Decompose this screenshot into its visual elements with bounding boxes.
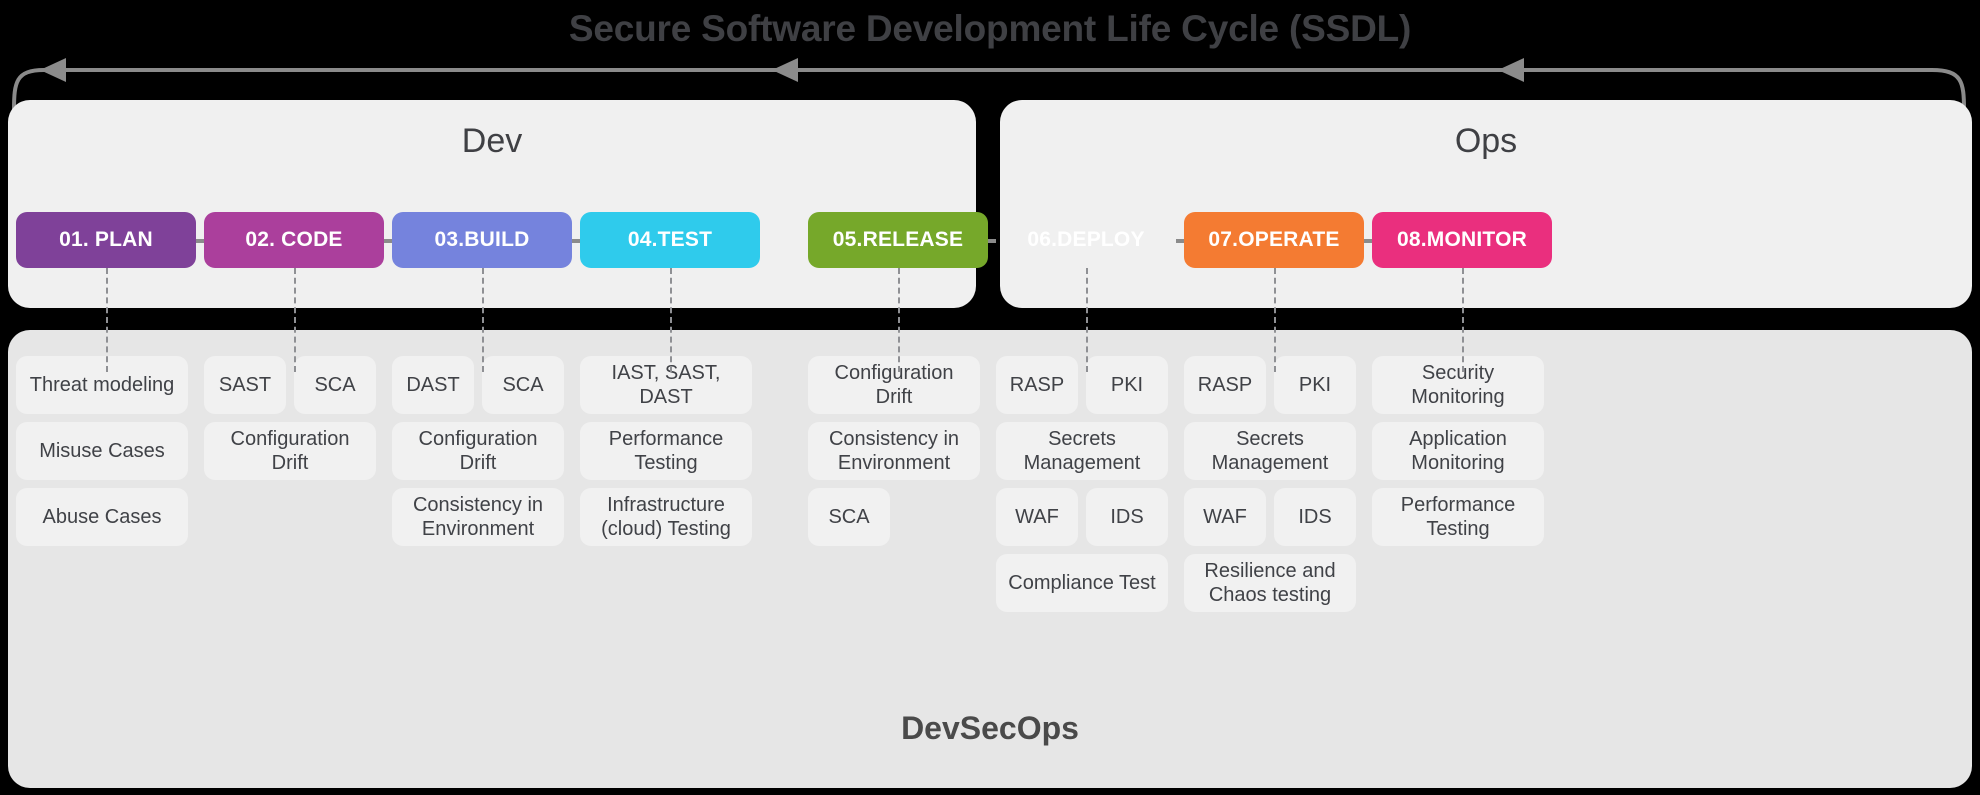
- practice-chip-label: Performance Testing: [586, 427, 746, 476]
- stage-connector-7: [1364, 239, 1372, 243]
- practice-chip[interactable]: Configuration Drift: [204, 422, 376, 480]
- practice-chip-label: Configuration Drift: [398, 427, 558, 476]
- practice-chip-label: Application Monitoring: [1378, 427, 1538, 476]
- stage-connector-6: [1176, 239, 1184, 243]
- stage-pill-label: 05.RELEASE: [833, 228, 963, 252]
- practice-chip[interactable]: Abuse Cases: [16, 488, 188, 546]
- stage-pill-label: 02. CODE: [245, 228, 342, 252]
- practice-chip[interactable]: Secrets Management: [996, 422, 1168, 480]
- feedback-arrowhead-left: [40, 58, 66, 82]
- practice-chip-label: Misuse Cases: [39, 439, 165, 463]
- practice-chip-label: RASP: [1010, 373, 1064, 397]
- practice-chip-label: IDS: [1110, 505, 1143, 529]
- stage-pill-7[interactable]: 07.OPERATE: [1184, 212, 1364, 268]
- practice-chip[interactable]: Performance Testing: [1372, 488, 1544, 546]
- stage-pill-label: 08.MONITOR: [1397, 228, 1527, 252]
- stage-pill-label: 06.DEPLOY: [1027, 228, 1144, 252]
- practice-chip[interactable]: IAST, SAST, DAST: [580, 356, 752, 414]
- practice-chip-label: Consistency in Environment: [814, 427, 974, 476]
- stage-dropper-5: [898, 268, 900, 372]
- practice-chip-label: SCA: [314, 373, 355, 397]
- practice-chip-label: Infrastructure (cloud) Testing: [586, 493, 746, 542]
- practice-chip-label: Threat modeling: [30, 373, 175, 397]
- practice-chip-label: RASP: [1198, 373, 1252, 397]
- practice-chip-label: PKI: [1299, 373, 1331, 397]
- page-title: Secure Software Development Life Cycle (…: [0, 8, 1980, 50]
- practice-chip[interactable]: Consistency in Environment: [808, 422, 980, 480]
- stage-pill-6[interactable]: 06.DEPLOY: [996, 212, 1176, 268]
- footer-label: DevSecOps: [0, 710, 1980, 747]
- feedback-arrowhead-mid: [772, 58, 798, 82]
- stage-dropper-2: [294, 268, 296, 372]
- practice-chip-label: SCA: [828, 505, 869, 529]
- practice-chip[interactable]: Misuse Cases: [16, 422, 188, 480]
- practice-chip[interactable]: SCA: [808, 488, 890, 546]
- practice-chip-label: Consistency in Environment: [398, 493, 558, 542]
- practice-chip-label: WAF: [1203, 505, 1247, 529]
- practice-chip[interactable]: Compliance Test: [996, 554, 1168, 612]
- stage-pill-label: 03.BUILD: [435, 228, 530, 252]
- practice-chip-label: Compliance Test: [1008, 571, 1155, 595]
- group-card-ops: Ops: [1000, 100, 1972, 308]
- practice-chip-label: WAF: [1015, 505, 1059, 529]
- practice-chip[interactable]: RASP: [996, 356, 1078, 414]
- practice-chip-label: Secrets Management: [1002, 427, 1162, 476]
- practice-chip-label: Security Monitoring: [1378, 361, 1538, 410]
- practice-chip[interactable]: Performance Testing: [580, 422, 752, 480]
- feedback-arrowhead-right: [1498, 58, 1524, 82]
- stage-pill-1[interactable]: 01. PLAN: [16, 212, 196, 268]
- stage-connector-5: [988, 239, 996, 243]
- practice-chip[interactable]: SCA: [482, 356, 564, 414]
- practice-chip-label: SCA: [502, 373, 543, 397]
- practice-chip-label: Performance Testing: [1378, 493, 1538, 542]
- practice-chip[interactable]: IDS: [1274, 488, 1356, 546]
- practice-chip[interactable]: Configuration Drift: [392, 422, 564, 480]
- stage-pill-2[interactable]: 02. CODE: [204, 212, 384, 268]
- stage-connector-3: [572, 239, 580, 243]
- practice-chip-label: IAST, SAST, DAST: [586, 361, 746, 410]
- stage-pill-label: 01. PLAN: [59, 228, 153, 252]
- practice-chip-label: Resilience and Chaos testing: [1190, 559, 1350, 608]
- practice-chip-label: Configuration Drift: [814, 361, 974, 410]
- practice-chip[interactable]: Threat modeling: [16, 356, 188, 414]
- practice-chip[interactable]: SCA: [294, 356, 376, 414]
- practice-chip[interactable]: DAST: [392, 356, 474, 414]
- group-label-dev: Dev: [8, 122, 976, 161]
- practice-chip[interactable]: Secrets Management: [1184, 422, 1356, 480]
- practice-chip[interactable]: WAF: [996, 488, 1078, 546]
- stage-dropper-7: [1274, 268, 1276, 372]
- practice-chip-label: Configuration Drift: [210, 427, 370, 476]
- stage-pill-8[interactable]: 08.MONITOR: [1372, 212, 1552, 268]
- practice-chip[interactable]: Configuration Drift: [808, 356, 980, 414]
- practice-chip-label: Abuse Cases: [43, 505, 162, 529]
- practice-chip[interactable]: Infrastructure (cloud) Testing: [580, 488, 752, 546]
- practice-chip[interactable]: RASP: [1184, 356, 1266, 414]
- practice-chip[interactable]: WAF: [1184, 488, 1266, 546]
- practice-chip[interactable]: Resilience and Chaos testing: [1184, 554, 1356, 612]
- stage-dropper-1: [106, 268, 108, 372]
- practice-chip-label: Secrets Management: [1190, 427, 1350, 476]
- practice-chip[interactable]: PKI: [1274, 356, 1356, 414]
- stage-pill-5[interactable]: 05.RELEASE: [808, 212, 988, 268]
- practice-chip[interactable]: PKI: [1086, 356, 1168, 414]
- stage-connector-1: [196, 239, 204, 243]
- stage-pill-4[interactable]: 04.TEST: [580, 212, 760, 268]
- practice-chip-label: PKI: [1111, 373, 1143, 397]
- practice-chip-label: IDS: [1298, 505, 1331, 529]
- stage-connector-2: [384, 239, 392, 243]
- group-label-ops: Ops: [1000, 122, 1972, 161]
- stage-dropper-3: [482, 268, 484, 372]
- stage-dropper-6: [1086, 268, 1088, 372]
- stage-pill-label: 07.OPERATE: [1208, 228, 1339, 252]
- stage-dropper-8: [1462, 268, 1464, 372]
- diagram-canvas: Secure Software Development Life Cycle (…: [0, 0, 1980, 795]
- practice-chip-label: SAST: [219, 373, 271, 397]
- practice-chip[interactable]: Consistency in Environment: [392, 488, 564, 546]
- stage-pill-label: 04.TEST: [628, 228, 712, 252]
- practice-chip[interactable]: Security Monitoring: [1372, 356, 1544, 414]
- stage-dropper-4: [670, 268, 672, 372]
- practice-chip-label: DAST: [406, 373, 459, 397]
- stage-pill-3[interactable]: 03.BUILD: [392, 212, 572, 268]
- practice-chip[interactable]: Application Monitoring: [1372, 422, 1544, 480]
- practice-chip[interactable]: SAST: [204, 356, 286, 414]
- group-card-dev: Dev: [8, 100, 976, 308]
- practice-chip-grid: Threat modelingMisuse CasesAbuse CasesSA…: [8, 356, 1972, 676]
- practice-chip[interactable]: IDS: [1086, 488, 1168, 546]
